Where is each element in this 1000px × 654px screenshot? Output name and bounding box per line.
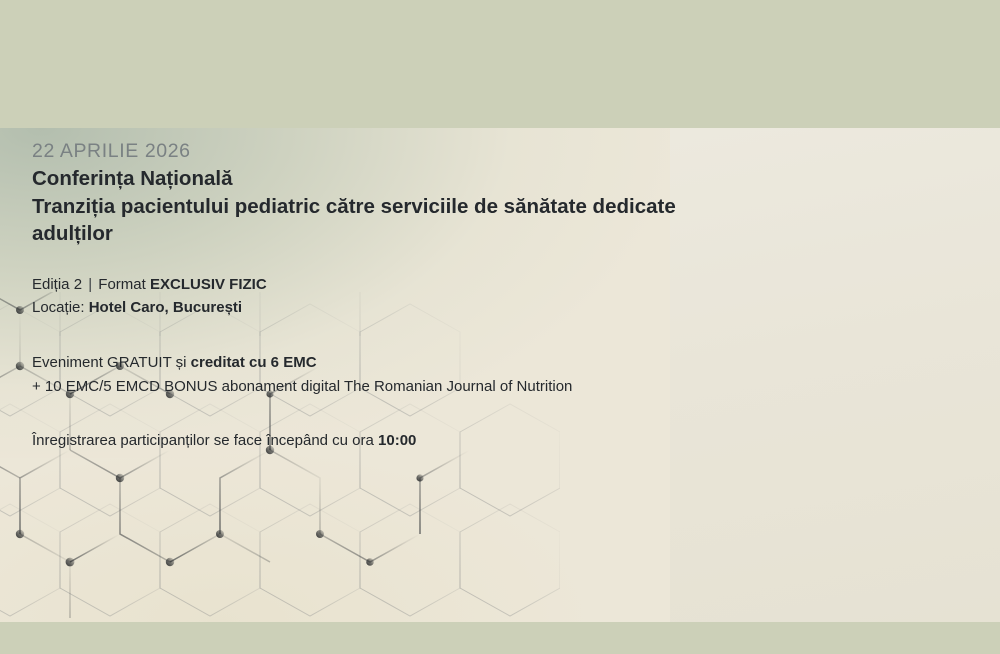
edition-format-line: Ediția 2 | Format EXCLUSIV FIZIC [32, 273, 722, 296]
event-date: 22 APRILIE 2026 [32, 140, 722, 163]
poster-canvas: 22 APRILIE 2026 Conferința Națională Tra… [0, 0, 1000, 654]
location-value: Hotel Caro, București [89, 299, 242, 316]
registration-time: 10:00 [378, 432, 416, 449]
registration-group: Înregistrarea participanților se face în… [32, 429, 722, 452]
location-label: Locație: [32, 299, 85, 316]
emc-credits-line: Eveniment GRATUIT și creditat cu 6 EMC [32, 351, 722, 375]
format-label: Format [98, 276, 146, 293]
format-value: EXCLUSIV FIZIC [150, 276, 267, 293]
emc-free-text: Eveniment GRATUIT și [32, 354, 186, 371]
edition-label: Ediția 2 [32, 276, 82, 293]
edition-separator: | [86, 276, 94, 293]
child-standing-silhouette [780, 478, 825, 622]
event-meta-group: Ediția 2 | Format EXCLUSIV FIZIC Locație… [32, 273, 722, 320]
conference-banner: 22 APRILIE 2026 Conferința Națională Tra… [0, 128, 1000, 622]
conference-title-line-1: Conferința Națională [32, 166, 722, 193]
emc-credits-group: Eveniment GRATUIT și creditat cu 6 EMC +… [32, 351, 722, 399]
emc-bonus-line: + 10 EMC/5 EMCD BONUS abonament digital … [32, 375, 722, 399]
registration-text: Înregistrarea participanților se face în… [32, 432, 374, 449]
emc-credit-value: creditat cu 6 EMC [191, 354, 317, 371]
conference-title-line-2: Tranziția pacientului pediatric către se… [32, 193, 704, 247]
banner-text-block: 22 APRILIE 2026 Conferința Națională Tra… [32, 140, 722, 452]
location-line: Locație: Hotel Caro, București [32, 296, 722, 319]
registration-line: Înregistrarea participanților se face în… [32, 429, 722, 452]
